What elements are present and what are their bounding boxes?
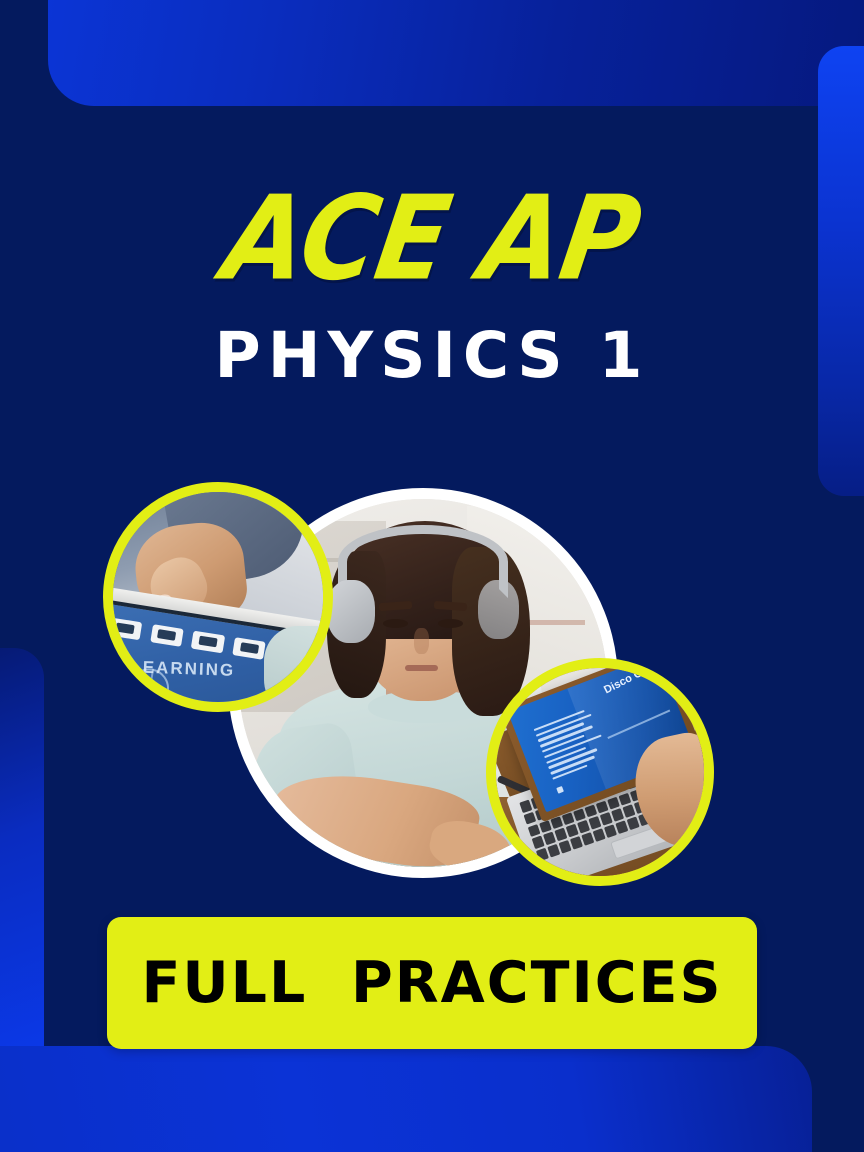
- decor-bottom-band: [0, 1046, 812, 1152]
- laptop-screen-rule: [607, 710, 669, 739]
- laptop-key: [603, 784, 616, 797]
- laptop-key: [565, 784, 578, 797]
- tablet-app-icon: [191, 630, 225, 653]
- tablet-device: E-LEARNING: [103, 598, 333, 712]
- tablet-app-icon: [232, 637, 266, 660]
- laptop-key: [644, 756, 657, 769]
- desk-surface: [228, 812, 618, 875]
- laptop-key: [539, 819, 552, 832]
- laptop-key: [550, 816, 563, 829]
- elearning-tablet-photo: E-LEARNING: [113, 492, 323, 702]
- globe-icon: [126, 665, 172, 711]
- laptop-key: [660, 805, 673, 818]
- laptop-key: [532, 835, 545, 848]
- laptop-key: [645, 797, 658, 810]
- tablet-app-icon: [108, 617, 142, 640]
- laptop-key: [576, 780, 589, 793]
- laptop-key: [610, 768, 623, 781]
- laptop-key: [652, 781, 665, 794]
- laptop-key: [555, 828, 568, 841]
- laptop-stand: [486, 712, 584, 819]
- tablet-desk-edge: [103, 585, 333, 642]
- laptop-key: [587, 776, 600, 789]
- laptop-key: [663, 777, 676, 790]
- laptop-key: [569, 796, 582, 809]
- decor-top-band: [48, 0, 864, 106]
- laptop-key: [562, 812, 575, 825]
- laptop-key: [632, 760, 645, 773]
- laptop-key: [548, 844, 561, 857]
- poster-canvas: ACE AP PHYSICS 1: [0, 0, 864, 1152]
- room-panel-right: [467, 506, 618, 727]
- desk-pen: [497, 775, 542, 800]
- student-nose: [414, 628, 429, 654]
- tablet-user-sleeve: [158, 482, 311, 591]
- poster-headline: ACE AP: [217, 180, 647, 296]
- laptop-key: [570, 836, 583, 849]
- laptop-key: [607, 796, 620, 809]
- laptop-key: [535, 807, 548, 820]
- laptop-screen-textlines: [533, 706, 614, 783]
- subheadline-container: PHYSICS 1: [0, 324, 864, 387]
- laptop-key: [546, 803, 559, 816]
- headphone-cup-left: [327, 580, 375, 643]
- student-head: [353, 543, 493, 701]
- student-eye-right: [438, 619, 464, 629]
- laptop-screen: Disco Outl: [507, 658, 696, 813]
- laptop-key: [543, 832, 556, 845]
- student-hair-top: [335, 521, 515, 639]
- laptop-key: [531, 795, 544, 808]
- laptop-key: [581, 832, 594, 845]
- laptop-key: [637, 772, 650, 785]
- student-eyebrow-left: [379, 601, 413, 611]
- tablet-scene-shirt: [264, 626, 333, 712]
- laptop-key: [634, 800, 647, 813]
- laptop-key: [559, 840, 572, 853]
- laptop-key: [614, 780, 627, 793]
- student-mouth: [405, 665, 438, 672]
- room-trim-line: [423, 620, 585, 625]
- student-neck: [386, 665, 467, 717]
- tablet-scene-wall: [235, 500, 333, 618]
- screen-gloss: [567, 658, 696, 790]
- room-background: [239, 499, 607, 867]
- desk-edge: [228, 849, 618, 875]
- laptop-screen-title: Disco Outl: [601, 661, 657, 699]
- student-eyebrow-right: [434, 601, 468, 611]
- laptop-user-hand: [627, 727, 714, 855]
- tablet-fingernail: [151, 592, 173, 610]
- room-panel-left: [228, 521, 386, 712]
- laptop-lid: Disco Outl: [499, 658, 705, 822]
- tablet-app-icon: [150, 624, 184, 647]
- laptop-keyboard: [520, 752, 685, 860]
- laptop-key: [558, 800, 571, 813]
- laptop-key: [566, 824, 579, 837]
- laptop-photo: Disco Outl: [496, 668, 704, 876]
- laptop-screen-cursor: [556, 787, 564, 795]
- laptop-key: [591, 788, 604, 801]
- laptop-key: [584, 804, 597, 817]
- poster-subheadline: PHYSICS 1: [215, 324, 650, 387]
- cta-banner[interactable]: FULL PRACTICES: [107, 917, 757, 1049]
- laptop-key: [659, 765, 672, 778]
- student-laptop: [407, 818, 542, 868]
- laptop-key: [593, 828, 606, 841]
- student-hair-right: [452, 547, 529, 716]
- student-photo: [239, 499, 607, 867]
- student-torso: [279, 679, 570, 878]
- laptop-key: [655, 752, 668, 765]
- student-collar: [368, 690, 486, 723]
- laptop-key: [604, 824, 617, 837]
- inset-photo-circle-bottom-right: Disco Outl: [486, 658, 714, 886]
- laptop-key: [520, 799, 533, 812]
- student-eye-left: [383, 619, 409, 629]
- tablet-screen-label: E-LEARNING: [109, 656, 235, 680]
- student-hand: [426, 815, 515, 878]
- laptop-key: [638, 813, 651, 826]
- laptop-key: [622, 804, 635, 817]
- laptop-key: [627, 816, 640, 829]
- laptop-key: [600, 812, 613, 825]
- headphone-cup-right: [478, 580, 518, 639]
- laptop-key: [648, 768, 661, 781]
- laptop-key: [656, 793, 669, 806]
- laptop-key: [536, 848, 549, 861]
- laptop-key: [528, 823, 541, 836]
- laptop-key: [611, 808, 624, 821]
- tablet-user-hand: [131, 518, 250, 625]
- laptop-key: [553, 787, 566, 800]
- laptop-key: [573, 808, 586, 821]
- laptop-key: [577, 820, 590, 833]
- laptop-desk: [486, 727, 714, 886]
- laptop-base: [506, 735, 714, 886]
- tablet-scene-background: [113, 492, 323, 702]
- laptop-key: [588, 816, 601, 829]
- student-forearm: [267, 763, 483, 875]
- laptop-key: [625, 776, 638, 789]
- laptop-scene-sleeve: [486, 658, 542, 797]
- laptop-key: [618, 792, 631, 805]
- laptop-key: [580, 792, 593, 805]
- laptop-key: [542, 791, 555, 804]
- laptop-key: [615, 820, 628, 833]
- laptop-key: [599, 772, 612, 785]
- laptop-key: [596, 800, 609, 813]
- laptop-key: [649, 809, 662, 822]
- main-photo-circle: [228, 488, 618, 878]
- laptop-scene-background: [496, 668, 704, 876]
- laptop-key: [524, 811, 537, 824]
- student-sleeve: [246, 721, 365, 859]
- headline-container: ACE AP: [0, 186, 864, 290]
- tablet-app-icon: [274, 644, 308, 667]
- student-hair-left: [327, 551, 386, 698]
- decor-left-bar: [0, 648, 44, 1080]
- laptop-key: [668, 789, 681, 802]
- laptop-trackpad: [610, 823, 670, 859]
- cta-label: FULL PRACTICES: [141, 950, 722, 1016]
- laptop-key: [672, 801, 685, 814]
- laptop-key: [621, 764, 634, 777]
- tablet-pointing-finger: [142, 550, 214, 622]
- headphone-band: [338, 525, 507, 599]
- laptop-key: [641, 784, 654, 797]
- laptop-key: [629, 788, 642, 801]
- room-trim-line-upper: [254, 558, 423, 562]
- inset-photo-circle-top-left: E-LEARNING: [103, 482, 333, 712]
- tablet-icon-row: [108, 614, 333, 675]
